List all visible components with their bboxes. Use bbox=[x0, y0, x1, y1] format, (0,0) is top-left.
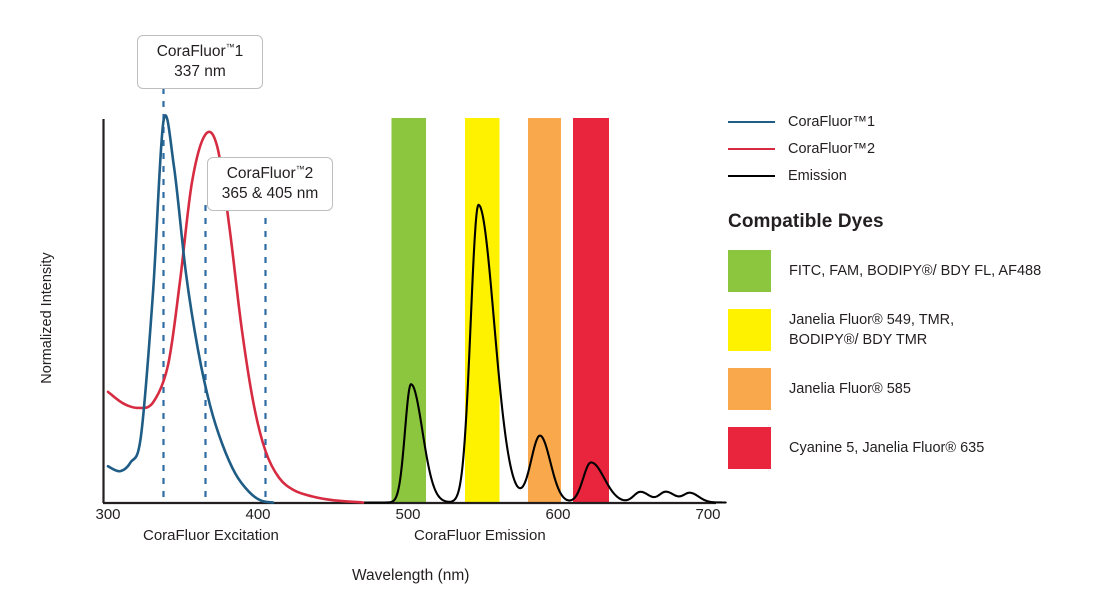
dye-color-swatch bbox=[728, 309, 771, 351]
legend-item-1: CoraFluor™2 bbox=[728, 135, 1098, 162]
dye-legend-item-3: Cyanine 5, Janelia Fluor® 635 bbox=[728, 427, 1098, 469]
legend-item-0: CoraFluor™1 bbox=[728, 108, 1098, 135]
dye-color-swatch bbox=[728, 368, 771, 410]
callout-corafluor1-value: 337 nm bbox=[148, 62, 252, 81]
y-axis-label: Normalized Intensity bbox=[39, 238, 55, 398]
legend-panel: CoraFluor™1CoraFluor™2Emission Compatibl… bbox=[728, 108, 1098, 486]
legend-line-swatch-icon bbox=[728, 175, 775, 177]
excitation-range-label: CoraFluor Excitation bbox=[143, 527, 279, 544]
dye-color-swatch bbox=[728, 250, 771, 292]
dye-band-2 bbox=[528, 118, 561, 503]
series-legend: CoraFluor™1CoraFluor™2Emission bbox=[728, 108, 1098, 189]
dye-legend-item-2: Janelia Fluor® 585 bbox=[728, 368, 1098, 410]
x-tick-700: 700 bbox=[678, 506, 738, 523]
callout-corafluor2-title: CoraFluor™2 bbox=[218, 164, 322, 184]
dye-label: Janelia Fluor® 549, TMR,BODIPY®/ BDY TMR bbox=[789, 310, 954, 350]
legend-item-label: CoraFluor™2 bbox=[788, 141, 875, 157]
trademark-icon: ™ bbox=[226, 42, 235, 52]
dye-legend-item-0: FITC, FAM, BODIPY®/ BDY FL, AF488 bbox=[728, 250, 1098, 292]
x-tick-500: 500 bbox=[378, 506, 438, 523]
dye-legend-item-1: Janelia Fluor® 549, TMR,BODIPY®/ BDY TMR bbox=[728, 309, 1098, 351]
x-tick-600: 600 bbox=[528, 506, 588, 523]
emission-range-label: CoraFluor Emission bbox=[414, 527, 546, 544]
dye-label: Cyanine 5, Janelia Fluor® 635 bbox=[789, 438, 984, 458]
compatible-dyes-list: FITC, FAM, BODIPY®/ BDY FL, AF488Janelia… bbox=[728, 250, 1098, 469]
legend-item-2: Emission bbox=[728, 162, 1098, 189]
callout-corafluor1: CoraFluor™1 337 nm bbox=[137, 35, 263, 89]
x-axis-label: Wavelength (nm) bbox=[352, 567, 469, 585]
trademark-icon: ™ bbox=[296, 164, 305, 174]
dye-label: FITC, FAM, BODIPY®/ BDY FL, AF488 bbox=[789, 261, 1041, 281]
compatible-dyes-heading: Compatible Dyes bbox=[728, 211, 1098, 233]
legend-line-swatch-icon bbox=[728, 121, 775, 123]
dye-label: Janelia Fluor® 585 bbox=[789, 379, 911, 399]
legend-line-swatch-icon bbox=[728, 148, 775, 150]
callout-corafluor2: CoraFluor™2 365 & 405 nm bbox=[207, 157, 333, 211]
legend-item-label: CoraFluor™1 bbox=[788, 114, 875, 130]
legend-item-label: Emission bbox=[788, 168, 847, 184]
callout-corafluor1-title: CoraFluor™1 bbox=[148, 42, 252, 62]
x-tick-400: 400 bbox=[228, 506, 288, 523]
x-tick-300: 300 bbox=[78, 506, 138, 523]
callout-corafluor2-value: 365 & 405 nm bbox=[218, 184, 322, 203]
dye-band-3 bbox=[573, 118, 609, 503]
dye-band-0 bbox=[392, 118, 427, 503]
dye-color-swatch bbox=[728, 427, 771, 469]
